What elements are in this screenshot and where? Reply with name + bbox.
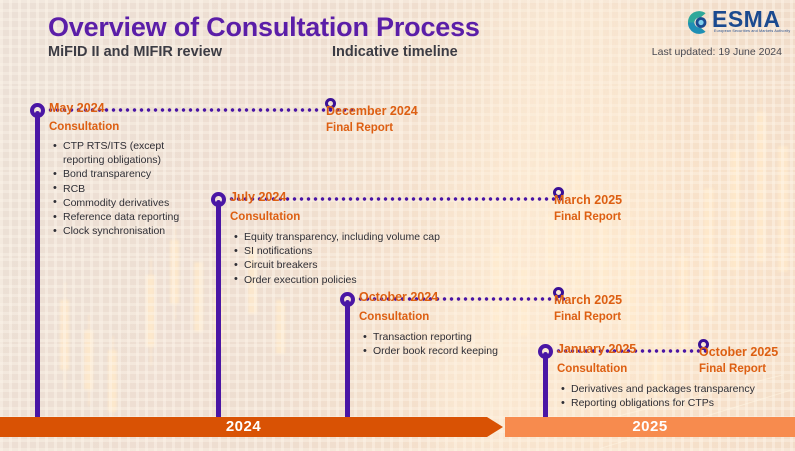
endpoint-kind: Final Report <box>554 311 621 323</box>
list-item: Derivatives and packages transparency <box>559 382 755 396</box>
milestone-stem <box>543 352 548 420</box>
timeline-bar: 2024 2025 <box>0 417 795 437</box>
list-item: Clock synchronisation <box>51 224 198 238</box>
list-item: Bond transparency <box>51 167 198 181</box>
milestone-date: July 2024 <box>230 190 286 204</box>
milestone-item-list: CTP RTS/ITS (except reporting obligation… <box>51 139 198 238</box>
list-item: Order execution policies <box>232 273 440 287</box>
milestone-date: January 2025 <box>557 342 636 356</box>
list-item: RCB <box>51 182 198 196</box>
subtitle-scope: MiFID II and MIFIR review <box>48 44 222 60</box>
timeline-year-2025-label: 2025 <box>505 418 795 435</box>
milestone-kind: Consultation <box>359 311 429 323</box>
milestone-node-icon <box>340 292 355 307</box>
endpoint-kind: Final Report <box>554 211 621 223</box>
milestone-item-list: Derivatives and packages transparency Re… <box>559 382 755 410</box>
milestone-kind: Consultation <box>230 211 300 223</box>
milestone-node-icon <box>538 344 553 359</box>
slide-canvas: Overview of Consultation Process MiFID I… <box>0 0 795 451</box>
milestone-kind: Consultation <box>557 363 627 375</box>
endpoint-kind: Final Report <box>699 363 766 375</box>
endpoint-date: October 2025 <box>699 345 778 359</box>
milestone-stem <box>345 300 350 420</box>
subtitle-timeline: Indicative timeline <box>332 44 458 60</box>
list-item: Transaction reporting <box>361 330 498 344</box>
esma-logo: ESMA European Securities and Markets Aut… <box>683 8 783 38</box>
endpoint-date: December 2024 <box>326 104 418 118</box>
milestone-item-list: Transaction reporting Order book record … <box>361 330 498 358</box>
endpoint-date: March 2025 <box>554 193 622 207</box>
milestone-date: May 2024 <box>49 101 105 115</box>
list-item: Reference data reporting <box>51 210 198 224</box>
list-item: CTP RTS/ITS (except reporting obligation… <box>51 139 198 167</box>
milestone-item-list: Equity transparency, including volume ca… <box>232 230 440 287</box>
milestone-node-icon <box>211 192 226 207</box>
milestone-kind: Consultation <box>49 121 119 133</box>
list-item: Commodity derivatives <box>51 196 198 210</box>
page-title: Overview of Consultation Process <box>48 12 480 43</box>
milestone-stem <box>216 200 221 420</box>
esma-logo-icon <box>683 9 710 36</box>
endpoint-date: March 2025 <box>554 293 622 307</box>
slide-header: Overview of Consultation Process MiFID I… <box>0 0 795 72</box>
list-item: Circuit breakers <box>232 258 440 272</box>
milestone-date: October 2024 <box>359 290 438 304</box>
milestone-stem <box>35 111 40 420</box>
milestone-node-icon <box>30 103 45 118</box>
list-item: Reporting obligations for CTPs <box>559 396 755 410</box>
list-item: Order book record keeping <box>361 344 498 358</box>
list-item: Equity transparency, including volume ca… <box>232 230 440 244</box>
list-item: SI notifications <box>232 244 440 258</box>
endpoint-kind: Final Report <box>326 122 393 134</box>
esma-logo-tagline: European Securities and Markets Authorit… <box>714 29 790 33</box>
timeline-year-2024-label: 2024 <box>0 418 487 435</box>
last-updated-text: Last updated: 19 June 2024 <box>652 46 782 58</box>
